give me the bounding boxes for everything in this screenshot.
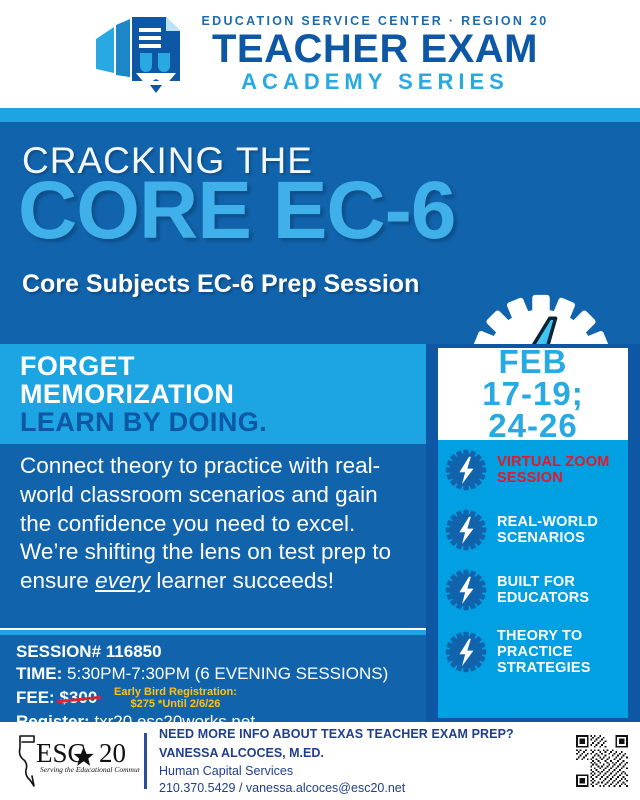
body-paragraph: Connect theory to practice with real-wor… [0, 444, 426, 596]
gear-lightning-bolt-icon [444, 448, 488, 492]
feature-label: VIRTUAL ZOOM SESSION [497, 454, 610, 486]
feature-line-2: PRACTICE [497, 644, 573, 660]
date-range-2: 24-26 [488, 410, 577, 442]
feature-item: VIRTUAL ZOOM SESSION [438, 440, 628, 500]
feature-line-3: STRATEGIES [497, 660, 591, 676]
session-info-block: SESSION# 116850 TIME: 5:30PM-7:30PM (6 E… [0, 630, 426, 727]
session-number: 116850 [106, 642, 162, 661]
body-copy-block: Connect theory to practice with real-wor… [0, 444, 426, 628]
gear-lightning-bolt-icon [444, 508, 488, 552]
feature-item: REAL-WORLD SCENARIOS [438, 500, 628, 560]
feature-list: VIRTUAL ZOOM SESSION [438, 440, 628, 718]
body-part-2: learner succeeds! [150, 568, 334, 593]
feature-label: BUILT FOR EDUCATORS [497, 574, 589, 606]
banner-subtitle: Core Subjects EC-6 Prep Session [22, 270, 419, 299]
early-bird-line-1: Early Bird Registration: [114, 686, 237, 698]
feature-label: REAL-WORLD SCENARIOS [497, 514, 598, 546]
session-fee-line: FEE: $300 Early Bird Registration: $275 … [16, 686, 426, 711]
lead-line-3: LEARN BY DOING. [20, 408, 426, 436]
teacher-exam-logo-icon [92, 11, 188, 97]
esc20-logo-icon: ESC 20 Serving the Educational Community [12, 732, 140, 790]
time-label: TIME: [16, 664, 62, 683]
svg-text:Serving the Educational Commun: Serving the Educational Community [40, 765, 140, 774]
session-time-line: TIME: 5:30PM-7:30PM (6 EVENING SESSIONS) [16, 663, 426, 685]
feature-line-1: REAL-WORLD [497, 514, 598, 530]
feature-item: BUILT FOR EDUCATORS [438, 560, 628, 620]
fee-label: FEE: [16, 688, 55, 707]
session-label: SESSION# [16, 642, 106, 661]
feature-item: THEORY TO PRACTICE STRATEGIES [438, 620, 628, 685]
footer-divider [144, 733, 147, 789]
header-wordmark: EDUCATION SERVICE CENTER · REGION 20 TEA… [202, 15, 549, 94]
date-range-1: 17-19; [482, 378, 583, 410]
feature-line-1: VIRTUAL ZOOM [497, 454, 610, 470]
gear-lightning-bolt-icon [468, 292, 614, 344]
page-header: EDUCATION SERVICE CENTER · REGION 20 TEA… [0, 0, 640, 108]
footer-phone-email[interactable]: 210.370.5429 / vanessa.alcoces@esc20.net [159, 780, 576, 796]
early-bird-badge: Early Bird Registration: $275 *Until 2/6… [114, 686, 237, 711]
qr-code[interactable] [576, 735, 628, 787]
lead-line-2: MEMORIZATION [20, 380, 426, 408]
date-month: FEB [499, 346, 568, 378]
header-series: ACADEMY SERIES [241, 71, 509, 93]
feature-label: THEORY TO PRACTICE STRATEGIES [497, 628, 591, 677]
date-block: FEB 17-19; 24-26 [438, 348, 628, 440]
page-footer: ESC 20 Serving the Educational Community… [0, 722, 640, 800]
time-value: 5:30PM-7:30PM (6 EVENING SESSIONS) [67, 664, 388, 683]
footer-department: Human Capital Services [159, 763, 576, 779]
header-org-line: EDUCATION SERVICE CENTER · REGION 20 [202, 15, 549, 28]
session-number-line: SESSION# 116850 [16, 641, 426, 663]
gear-lightning-bolt-icon [444, 568, 488, 612]
svg-text:20: 20 [99, 738, 126, 768]
early-bird-line-2: $275 *Until 2/6/26 [131, 698, 221, 710]
banner-headline: CORE EC-6 [18, 170, 456, 252]
flyer-page: EDUCATION SERVICE CENTER · REGION 20 TEA… [0, 0, 640, 800]
accent-strip [0, 108, 640, 122]
feature-line-1: THEORY TO [497, 628, 582, 644]
header-title: TEACHER EXAM [212, 29, 538, 69]
title-banner: CRACKING THE CORE EC-6 Core Subjects EC-… [0, 122, 640, 344]
feature-line-2: SESSION [497, 470, 563, 486]
gear-lightning-bolt-icon [444, 630, 488, 674]
lead-headline-block: FORGET MEMORIZATION LEARN BY DOING. [0, 344, 426, 444]
lead-line-1: FORGET [20, 352, 426, 380]
body-emphasis: every [95, 568, 150, 593]
feature-line-2: EDUCATORS [497, 590, 589, 606]
fee-original-price: $300 [59, 688, 97, 707]
footer-contact: NEED MORE INFO ABOUT TEXAS TEACHER EXAM … [159, 726, 576, 797]
footer-question: NEED MORE INFO ABOUT TEXAS TEACHER EXAM … [159, 726, 576, 742]
footer-contact-name: VANESSA ALCOCES, M.ED. [159, 745, 576, 761]
feature-line-1: BUILT FOR [497, 574, 575, 590]
feature-line-2: SCENARIOS [497, 530, 585, 546]
